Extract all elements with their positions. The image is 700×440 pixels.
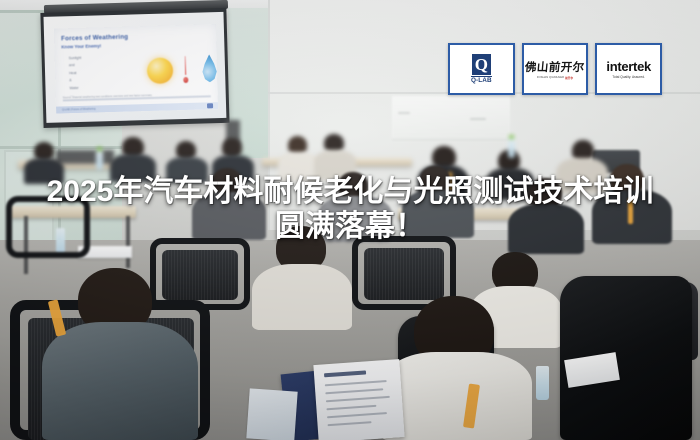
- handout-line: [325, 388, 383, 394]
- calligraphy-wordmark: 佛山前开尔: [525, 59, 586, 75]
- logo-row: Q Q-LAB 佛山前开尔 FOSHAN QIANKAIER 前开尔 inter…: [448, 43, 662, 95]
- slide-title: Forces of Weathering: [61, 34, 128, 43]
- presentation-slide: Forces of Weathering Know Your Enemy! Su…: [54, 24, 218, 113]
- projector-screen: Forces of Weathering Know Your Enemy! Su…: [40, 8, 229, 128]
- title-line-1: 2025年汽车材料耐候老化与光照测试技术培训: [0, 176, 700, 208]
- attendee-torso: [42, 322, 198, 440]
- chair-back: [162, 250, 238, 300]
- water-bottle: [536, 366, 549, 400]
- q-lab-wordmark: Q-LAB: [471, 76, 492, 85]
- thermometer-icon: [183, 56, 189, 83]
- whiteboard-mark: [470, 118, 486, 120]
- subtitle-accent: 前开尔: [565, 76, 573, 80]
- foshan-qiankaier-logo: 佛山前开尔 FOSHAN QIANKAIER 前开尔: [525, 59, 585, 80]
- water-bottle: [508, 138, 515, 158]
- attendee-torso: [252, 264, 352, 330]
- subtitle-latin: FOSHAN QIANKAIER: [537, 76, 564, 79]
- intertek-logo: intertek Total Quality. Assured.: [606, 60, 651, 79]
- handout-line: [327, 412, 387, 418]
- slide-bullet: and: [69, 62, 121, 67]
- slide-bullet: Sunlight: [69, 55, 121, 60]
- logo-box-q-lab: Q Q-LAB: [448, 43, 515, 95]
- water-drop-icon: [201, 54, 219, 82]
- water-bottle: [96, 150, 103, 170]
- handout-paper: [246, 388, 297, 440]
- event-banner: Forces of Weathering Know Your Enemy! Su…: [0, 0, 700, 440]
- slide-bullet: &: [69, 77, 121, 82]
- handout-booklet: [313, 359, 404, 440]
- slide-bullet: Heat: [69, 70, 121, 75]
- glass-mullion: [0, 146, 122, 149]
- q-lab-logo: Q Q-LAB: [471, 54, 492, 85]
- logo-box-intertek: intertek Total Quality. Assured.: [595, 43, 662, 95]
- logo-box-foshan-qiankaier: 佛山前开尔 FOSHAN QIANKAIER 前开尔: [522, 43, 589, 95]
- handout-heading: [324, 370, 366, 377]
- intertek-tagline: Total Quality. Assured.: [612, 75, 645, 79]
- intertek-wordmark: intertek: [606, 60, 651, 73]
- chair-back: [364, 248, 444, 300]
- screen-surface: Forces of Weathering Know Your Enemy! Su…: [44, 12, 227, 123]
- sun-icon: [147, 57, 174, 84]
- attendee-torso: [382, 352, 532, 440]
- calligraphy-subtitle: FOSHAN QIANKAIER 前开尔: [537, 76, 573, 80]
- title-overlay: 2025年汽车材料耐候老化与光照测试技术培训 圆满落幕！: [0, 176, 700, 244]
- q-lab-mark: Q: [472, 54, 491, 75]
- handout-line: [328, 421, 372, 426]
- slide-subtitle: Know Your Enemy!: [61, 43, 101, 49]
- slide-footer-logo: [207, 103, 213, 108]
- slide-bullet: Water: [69, 84, 121, 89]
- title-line-2: 圆满落幕！: [0, 211, 700, 243]
- monitor: [56, 150, 114, 164]
- whiteboard: [392, 96, 510, 140]
- whiteboard-mark: [398, 112, 410, 114]
- handout-line: [325, 380, 387, 386]
- handout-line: [326, 396, 390, 402]
- handout-line: [326, 405, 376, 410]
